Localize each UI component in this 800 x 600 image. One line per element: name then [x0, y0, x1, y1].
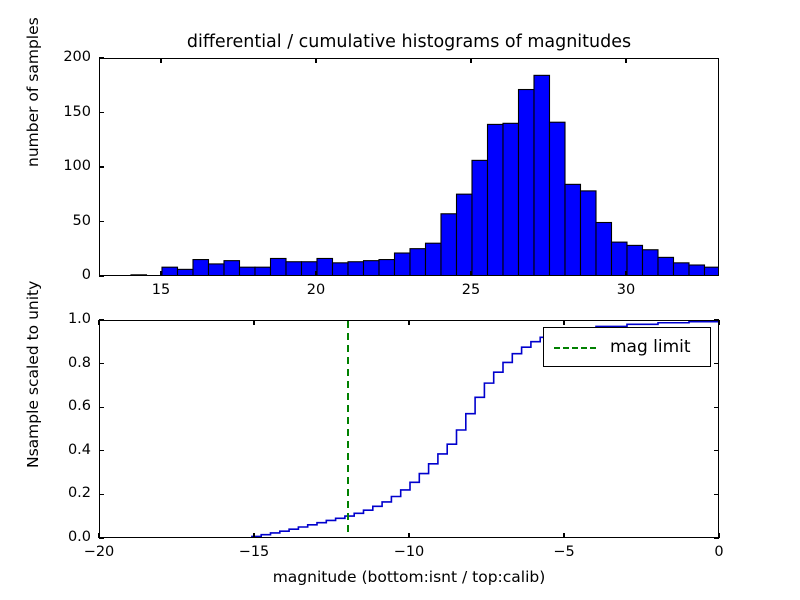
- y-tick-label: 100: [33, 158, 91, 174]
- histogram-bar: [209, 264, 225, 275]
- figure-title: differential / cumulative histograms of …: [99, 32, 719, 52]
- x-tick-mark-top: [315, 58, 316, 63]
- y-tick-label: 200: [33, 49, 91, 65]
- histogram-bar: [410, 249, 426, 275]
- x-tick-label: −10: [379, 544, 439, 560]
- histogram-bar: [565, 184, 581, 275]
- mag-limit-line-icon: [554, 340, 596, 354]
- histogram-bar: [627, 245, 643, 275]
- histogram-bar: [674, 263, 690, 275]
- legend-label-mag-limit: mag limit: [610, 337, 691, 357]
- y-tick-mark-right: [714, 363, 719, 364]
- histogram-bar: [271, 258, 287, 275]
- histogram-bar: [364, 261, 380, 275]
- y-tick-mark: [99, 319, 104, 320]
- x-tick-mark-top: [470, 58, 471, 63]
- y-tick-label: 0.8: [33, 355, 91, 371]
- y-tick-label: 0.0: [33, 529, 91, 545]
- histogram-bar: [581, 191, 597, 275]
- histogram-bar: [426, 243, 442, 275]
- y-tick-mark-right: [714, 319, 719, 320]
- histogram-bar: [224, 261, 240, 275]
- x-tick-label: −5: [534, 544, 594, 560]
- x-tick-label: 30: [596, 282, 656, 298]
- y-tick-mark: [99, 112, 104, 113]
- y-tick-label: 1.0: [33, 311, 91, 327]
- y-tick-mark: [99, 363, 104, 364]
- histogram-bar: [658, 257, 674, 275]
- histogram-bar: [395, 253, 411, 275]
- histogram-bar: [596, 223, 612, 276]
- bottom-axis-ylabel: Nsample scaled to unity: [24, 281, 42, 468]
- histogram-bar: [488, 124, 504, 275]
- histogram-bar: [503, 123, 519, 275]
- top-axis-ylabel: number of samples: [24, 17, 42, 167]
- legend[interactable]: mag limit: [543, 327, 711, 367]
- histogram-bar: [534, 75, 550, 275]
- y-tick-mark-right: [714, 450, 719, 451]
- x-tick-mark-top: [98, 320, 99, 325]
- x-tick-mark: [253, 533, 254, 538]
- matplotlib-figure: differential / cumulative histograms of …: [0, 0, 800, 600]
- histogram-bar: [550, 122, 566, 275]
- y-tick-mark: [99, 166, 104, 167]
- y-tick-label: 50: [33, 213, 91, 229]
- x-tick-mark: [470, 271, 471, 276]
- y-tick-label: 150: [33, 104, 91, 120]
- histogram-bar: [255, 267, 271, 275]
- y-tick-label: 0.6: [33, 398, 91, 414]
- x-tick-label: 15: [131, 282, 191, 298]
- y-tick-label: 0.2: [33, 485, 91, 501]
- x-tick-label: −20: [69, 544, 129, 560]
- histogram-bar: [705, 267, 719, 275]
- histogram-bar: [240, 267, 256, 275]
- x-tick-label: 20: [286, 282, 346, 298]
- y-tick-mark: [99, 57, 104, 58]
- x-tick-mark: [408, 533, 409, 538]
- x-tick-mark-top: [563, 320, 564, 325]
- x-tick-mark-top: [625, 58, 626, 63]
- histogram-bar: [317, 258, 333, 275]
- histogram-bar: [643, 250, 659, 275]
- bottom-axis-xlabel: magnitude (bottom:isnt / top:calib): [99, 568, 719, 586]
- x-tick-label: −15: [224, 544, 284, 560]
- x-tick-label: 25: [441, 282, 501, 298]
- y-tick-mark: [99, 494, 104, 495]
- y-tick-mark: [99, 450, 104, 451]
- x-tick-mark: [160, 271, 161, 276]
- histogram-bar: [286, 262, 302, 275]
- y-tick-mark-right: [714, 407, 719, 408]
- x-tick-mark-top: [408, 320, 409, 325]
- x-tick-mark-top: [253, 320, 254, 325]
- x-tick-mark: [625, 271, 626, 276]
- y-tick-mark: [99, 407, 104, 408]
- histogram-bar: [457, 194, 473, 275]
- histogram-bar: [193, 260, 209, 275]
- y-tick-mark-right: [714, 537, 719, 538]
- x-tick-mark: [563, 533, 564, 538]
- top-plot-area: [100, 59, 718, 275]
- histogram-bar: [162, 267, 178, 275]
- y-tick-mark: [99, 221, 104, 222]
- y-tick-mark: [99, 537, 104, 538]
- x-tick-mark: [315, 271, 316, 276]
- histogram-bar: [689, 265, 705, 275]
- histogram-bar: [519, 90, 535, 275]
- top-axes-histogram: [99, 58, 719, 276]
- y-tick-label: 0.4: [33, 442, 91, 458]
- x-tick-mark-top: [718, 320, 719, 325]
- x-tick-label: 0: [689, 544, 749, 560]
- histogram-bar: [472, 160, 488, 275]
- histogram-bar: [178, 269, 194, 275]
- y-tick-mark-right: [714, 494, 719, 495]
- histogram-bar: [441, 214, 457, 275]
- histogram-bar: [348, 262, 364, 275]
- histogram-bar: [333, 263, 349, 275]
- y-tick-mark: [99, 275, 104, 276]
- histogram-bar: [379, 260, 395, 275]
- histogram-bars-svg: [100, 59, 718, 275]
- x-tick-mark-top: [160, 58, 161, 63]
